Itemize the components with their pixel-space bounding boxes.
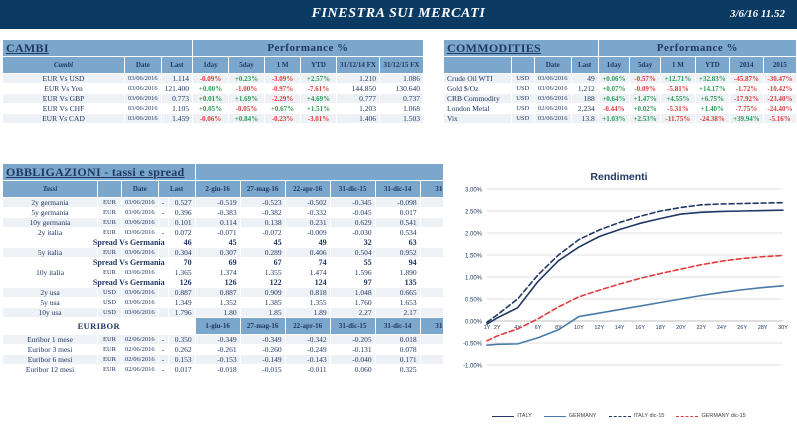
- bond-sign: [158, 218, 168, 228]
- spread-row: Spread Vs Germania12612612212497135220: [3, 278, 479, 288]
- cambi-performance-header: Performance %: [193, 40, 424, 57]
- obbligazioni-section-title: OBBLIGAZIONI - tassi e spread: [3, 164, 196, 181]
- cambi-date: 03/06/2016: [125, 114, 162, 124]
- cambi-1m: -3.09%: [265, 74, 301, 84]
- col-header-1day: 1day: [598, 57, 629, 74]
- col-header-tassi: Tassi: [3, 181, 98, 198]
- bond-col-2: 1.385: [240, 298, 285, 308]
- bond-currency: USD: [98, 288, 122, 298]
- col-header-c1: 2-giu-16: [195, 181, 240, 198]
- bond-col-3: 1.474: [285, 268, 330, 278]
- euribor-name: Euribor 12 mesi: [3, 365, 98, 375]
- euribor-col-header-2: 27-mag-16: [240, 318, 285, 335]
- bond-currency: EUR: [98, 248, 122, 258]
- table-row: 5y usaUSD03/06/20161.3491.3521.3851.3551…: [3, 298, 479, 308]
- commodity-2015: -24.40%: [763, 104, 796, 114]
- euribor-col-4: -0.131: [330, 345, 375, 355]
- commodity-last: 1,212: [571, 84, 598, 94]
- euribor-col-2: -0.260: [240, 345, 285, 355]
- cambi-fx15: 1.086: [379, 74, 423, 84]
- euribor-col-header-3: 22-apr-16: [285, 318, 330, 335]
- col-header-1m: 1 M: [265, 57, 301, 74]
- spread-col-2: 67: [240, 258, 285, 268]
- commodity-currency: USD: [511, 74, 534, 84]
- commodity-last: 13.8: [571, 114, 598, 124]
- bond-col-1: 1.80: [195, 308, 240, 318]
- bond-name: 2y germania: [3, 198, 98, 208]
- legend-swatch-icon: [676, 416, 698, 417]
- cambi-1m: -0.23%: [265, 114, 301, 124]
- commodity-date: 03/06/2016: [534, 74, 571, 84]
- col-header-c2: 27-mag-16: [240, 181, 285, 198]
- commodity-ytd: +6.75%: [695, 94, 729, 104]
- chart-y-tick-label: 1.50%: [465, 254, 483, 260]
- bond-col-1: 1.374: [195, 268, 240, 278]
- table-row: Euribor 1 meseEUR02/06/2016-0.350-0.349-…: [3, 335, 479, 345]
- euribor-col-1: -0.349: [195, 335, 240, 345]
- euribor-col-3: -0.342: [285, 335, 330, 345]
- legend-swatch-icon: [492, 416, 514, 417]
- euribor-col-5: 0.078: [375, 345, 420, 355]
- bond-name: 5y usa: [3, 298, 98, 308]
- commodity-name: CRB Commodity: [444, 94, 512, 104]
- spread-col-3: 74: [285, 258, 330, 268]
- bond-currency: EUR: [98, 218, 122, 228]
- spread-col-2: 122: [240, 278, 285, 288]
- euribor-col-4: 0.060: [330, 365, 375, 375]
- euribor-last: 0.153: [168, 355, 195, 365]
- cambi-fx14: 144.850: [337, 84, 380, 94]
- commodity-1day: +0.06%: [598, 74, 629, 84]
- commodity-5day: -0.57%: [629, 74, 660, 84]
- spread-label: Spread Vs Germania: [3, 258, 169, 268]
- table-row: EUR Vs GBP03/06/20160.773+0.01%+1.69%-2.…: [3, 94, 424, 104]
- col-header-last: Last: [158, 181, 195, 198]
- cambi-pair-label: EUR Vs Yen: [3, 84, 125, 94]
- bond-col-3: 0.231: [285, 218, 330, 228]
- bond-date: 03/06/2016: [122, 228, 159, 238]
- col-header-last: Last: [571, 57, 598, 74]
- table-row: 2y usaUSD03/06/20160.8870.8870.9090.8181…: [3, 288, 479, 298]
- bond-col-5: 0.017: [375, 208, 420, 218]
- bond-name: 10y germania: [3, 218, 98, 228]
- chart-canvas: 3.00%2.50%2.00%1.50%1.00%0.50%0.00%-0.50…: [443, 163, 795, 427]
- bond-last: 0.072: [168, 228, 195, 238]
- bond-col-1: 0.887: [195, 288, 240, 298]
- table-row: EUR Vs USD03/06/20161.114-0.09%+0.23%-3.…: [3, 74, 424, 84]
- commodity-2014: -45.87%: [730, 74, 764, 84]
- obbligazioni-title-row: OBBLIGAZIONI - tassi e spread: [3, 164, 479, 181]
- bond-last: 0.304: [168, 248, 195, 258]
- spread-row: Spread Vs Germania706967745594181: [3, 258, 479, 268]
- bond-sign: [158, 308, 168, 318]
- bond-col-2: 0.138: [240, 218, 285, 228]
- chart-series-italy-dic-15: [487, 203, 783, 323]
- bond-sign: [158, 288, 168, 298]
- commodity-currency: USD: [511, 94, 534, 104]
- commodity-1m: -5.31%: [661, 104, 695, 114]
- bond-sign: -: [158, 208, 168, 218]
- bond-col-4: 1.596: [330, 268, 375, 278]
- col-header-c4: 31-dic-15: [330, 181, 375, 198]
- table-row: EUR Vs CAD03/06/20161.459-0.06%+0.84%-0.…: [3, 114, 424, 124]
- commodity-5day: +1.47%: [629, 94, 660, 104]
- cambi-last: 1.114: [161, 74, 192, 84]
- cambi-pair-label: EUR Vs USD: [3, 74, 125, 84]
- obbligazioni-title-filler: [195, 164, 478, 181]
- euribor-name: Euribor 6 mesi: [3, 355, 98, 365]
- cambi-1day: -0.06%: [193, 114, 229, 124]
- chart-x-tick-label: 26Y: [737, 325, 747, 331]
- chart-x-tick-label: 30Y: [778, 325, 788, 331]
- commodity-ytd: +1.40%: [695, 104, 729, 114]
- col-header-ytd: YTD: [301, 57, 337, 74]
- col-header-c5: 31-dic-14: [375, 181, 420, 198]
- bond-col-1: 0.114: [195, 218, 240, 228]
- bond-currency: EUR: [98, 208, 122, 218]
- chart-x-tick-label: 1Y: [484, 325, 491, 331]
- euribor-sign: -: [158, 365, 168, 375]
- bond-date: 03/06/2016: [122, 268, 159, 278]
- bond-col-5: 0.534: [375, 228, 420, 238]
- legend-label: ITALY dic-15: [634, 413, 665, 419]
- euribor-col-1: -0.153: [195, 355, 240, 365]
- commodity-1m: -11.75%: [661, 114, 695, 124]
- table-row: EUR Vs CHF03/06/20161.105+0.05%-0.05%+0.…: [3, 104, 424, 114]
- commodity-2014: +39.94%: [730, 114, 764, 124]
- bond-last: 1.796: [168, 308, 195, 318]
- commodity-date: 03/06/2016: [534, 94, 571, 104]
- col-header-ccy-blank: [98, 181, 122, 198]
- bond-col-3: 0.406: [285, 248, 330, 258]
- bond-date: 03/06/2016: [122, 248, 159, 258]
- spread-col-3: 124: [285, 278, 330, 288]
- spread-last: 46: [168, 238, 195, 248]
- bond-col-1: 0.307: [195, 248, 240, 258]
- chart-y-tick-label: 2.00%: [465, 232, 483, 238]
- cambi-last: 0.773: [161, 94, 192, 104]
- bond-sign: [158, 268, 168, 278]
- commodity-ytd: +32.83%: [695, 74, 729, 84]
- timestamp: 3/6/16 11.52: [730, 8, 785, 20]
- bond-col-5: 0.541: [375, 218, 420, 228]
- bond-col-5: 0.665: [375, 288, 420, 298]
- commodity-2015: -5.16%: [763, 114, 796, 124]
- bond-last: 1.365: [168, 268, 195, 278]
- bond-col-1: 1.352: [195, 298, 240, 308]
- cambi-table: CAMBI Performance % Cambi Date Last 1day…: [2, 39, 424, 124]
- bond-col-2: -0.523: [240, 198, 285, 208]
- euribor-col-4: -0.040: [330, 355, 375, 365]
- bond-col-4: 1.760: [330, 298, 375, 308]
- bond-col-2: 1.85: [240, 308, 285, 318]
- cambi-1m: -0.97%: [265, 84, 301, 94]
- table-row: 5y germaniaEUR03/06/2016-0.396-0.383-0.3…: [3, 208, 479, 218]
- cambi-last: 121.400: [161, 84, 192, 94]
- bond-col-4: -0.030: [330, 228, 375, 238]
- euribor-sign: -: [158, 355, 168, 365]
- chart-y-tick-label: -0.50%: [463, 342, 483, 348]
- bond-last: 0.887: [168, 288, 195, 298]
- commodity-1day: -0.44%: [598, 104, 629, 114]
- cambi-fx14: 1.406: [337, 114, 380, 124]
- rendimenti-chart: Rendimenti 3.00%2.50%2.00%1.50%1.00%0.50…: [443, 163, 795, 427]
- commodity-name: London Metal: [444, 104, 512, 114]
- commodity-name: Vix: [444, 114, 512, 124]
- table-row: Euribor 3 mesiEUR02/06/2016-0.262-0.261-…: [3, 345, 479, 355]
- col-header-ytd: YTD: [695, 57, 729, 74]
- chart-x-tick-label: 20Y: [676, 325, 686, 331]
- bond-col-3: -0.502: [285, 198, 330, 208]
- chart-y-tick-label: 0.50%: [465, 298, 483, 304]
- spread-col-5: 94: [375, 258, 420, 268]
- chart-x-tick-label: 2Y: [494, 325, 501, 331]
- euribor-name: Euribor 3 mesi: [3, 345, 98, 355]
- spread-col-4: 97: [330, 278, 375, 288]
- obbligazioni-table: OBBLIGAZIONI - tassi e spread Tassi Date…: [2, 163, 479, 375]
- cambi-panel: CAMBI Performance % Cambi Date Last 1day…: [2, 39, 424, 124]
- bond-date: 03/06/2016: [122, 198, 159, 208]
- commodity-currency: USD: [511, 104, 534, 114]
- spread-col-4: 55: [330, 258, 375, 268]
- table-row: 2y italiaEUR03/06/2016-0.072-0.071-0.072…: [3, 228, 479, 238]
- spread-row: Spread Vs Germania464545493263104: [3, 238, 479, 248]
- bond-last: 0.527: [168, 198, 195, 208]
- chart-x-tick-label: 10Y: [574, 325, 584, 331]
- bond-currency: EUR: [98, 228, 122, 238]
- bond-col-5: 1.653: [375, 298, 420, 308]
- commodities-title-row: COMMODITIES Performance %: [444, 40, 797, 57]
- bond-date: 03/06/2016: [122, 298, 159, 308]
- bond-col-2: -0.382: [240, 208, 285, 218]
- euribor-currency: EUR: [98, 335, 122, 345]
- commodity-name: Crude Oil WTI: [444, 74, 512, 84]
- bond-sign: [158, 248, 168, 258]
- bond-name: 5y italia: [3, 248, 98, 258]
- bond-currency: USD: [98, 298, 122, 308]
- euribor-label: EURIBOR: [3, 318, 196, 335]
- bond-name: 2y italia: [3, 228, 98, 238]
- legend-label: GERMANY dic-15: [701, 413, 745, 419]
- cambi-last: 1.459: [161, 114, 192, 124]
- commodity-last: 49: [571, 74, 598, 84]
- spread-label: Spread Vs Germania: [3, 278, 169, 288]
- commodities-section-title: COMMODITIES: [444, 40, 599, 57]
- commodity-2015: -23.40%: [763, 94, 796, 104]
- bond-col-3: 1.89: [285, 308, 330, 318]
- col-header-2014: 2014: [730, 57, 764, 74]
- bond-currency: USD: [98, 308, 122, 318]
- commodity-name: Gold $/Oz: [444, 84, 512, 94]
- spread-col-2: 45: [240, 238, 285, 248]
- commodity-1m: +12.71%: [661, 74, 695, 84]
- euribor-date: 02/06/2016: [122, 345, 159, 355]
- bond-col-2: 0.289: [240, 248, 285, 258]
- legend-item[interactable]: GERMANY dic-15: [676, 413, 745, 419]
- euribor-last: 0.017: [168, 365, 195, 375]
- bond-col-5: 1.890: [375, 268, 420, 278]
- legend-item[interactable]: ITALY: [492, 413, 531, 419]
- euribor-col-5: 0.018: [375, 335, 420, 345]
- commodity-last: 2,234: [571, 104, 598, 114]
- legend-label: ITALY: [517, 413, 531, 419]
- euribor-col-1: -0.261: [195, 345, 240, 355]
- euribor-col-3: -0.011: [285, 365, 330, 375]
- cambi-1m: +0.67%: [265, 104, 301, 114]
- bond-sign: [158, 298, 168, 308]
- euribor-col-5: 0.171: [375, 355, 420, 365]
- table-row: 5y italiaEUR03/06/20160.3040.3070.2890.4…: [3, 248, 479, 258]
- dashboard-page: FINESTRA SUI MERCATI 3/6/16 11.52 CAMBI …: [0, 0, 797, 429]
- bond-col-3: 0.818: [285, 288, 330, 298]
- bond-col-3: 1.355: [285, 298, 330, 308]
- commodity-ytd: +14.17%: [695, 84, 729, 94]
- chart-x-tick-label: 22Y: [696, 325, 706, 331]
- table-row: Euribor 12 mesiEUR02/06/2016-0.017-0.018…: [3, 365, 479, 375]
- euribor-sign: -: [158, 345, 168, 355]
- chart-y-tick-label: -1.00%: [463, 364, 483, 370]
- title-bar: FINESTRA SUI MERCATI 3/6/16 11.52: [0, 0, 797, 30]
- commodities-header-row: Date Last 1day 5day 1 M YTD 2014 2015: [444, 57, 797, 74]
- obbligazioni-header-row: Tassi Date Last 2-giu-16 27-mag-16 22-ap…: [3, 181, 479, 198]
- bond-col-2: 0.909: [240, 288, 285, 298]
- euribor-col-2: -0.349: [240, 335, 285, 345]
- col-header-fx15: 31/12/15 FX: [379, 57, 423, 74]
- cambi-date: 03/06/2016: [125, 74, 162, 84]
- commodity-date: 03/06/2016: [534, 84, 571, 94]
- cambi-1day: -0.09%: [193, 74, 229, 84]
- euribor-sign: -: [158, 335, 168, 345]
- chart-y-tick-label: 3.00%: [465, 188, 483, 194]
- spread-col-5: 135: [375, 278, 420, 288]
- commodities-panel: COMMODITIES Performance % Date Last 1day…: [443, 39, 797, 124]
- bond-name: 5y germania: [3, 208, 98, 218]
- cambi-ytd: -7.61%: [301, 84, 337, 94]
- bond-col-3: -0.009: [285, 228, 330, 238]
- commodity-5day: -0.09%: [629, 84, 660, 94]
- bond-col-5: 0.952: [375, 248, 420, 258]
- spread-col-1: 126: [195, 278, 240, 288]
- bond-name: 10y usa: [3, 308, 98, 318]
- bond-col-5: 2.17: [375, 308, 420, 318]
- cambi-ytd: +1.51%: [301, 104, 337, 114]
- col-header-date: Date: [125, 57, 162, 74]
- euribor-name: Euribor 1 mese: [3, 335, 98, 345]
- euribor-currency: EUR: [98, 345, 122, 355]
- cambi-5day: -0.05%: [229, 104, 265, 114]
- cambi-5day: +0.84%: [229, 114, 265, 124]
- bond-col-4: 1.048: [330, 288, 375, 298]
- bond-sign: -: [158, 198, 168, 208]
- bond-date: 03/06/2016: [122, 218, 159, 228]
- cambi-date: 03/06/2016: [125, 84, 162, 94]
- commodity-1day: +0.07%: [598, 84, 629, 94]
- bond-date: 03/06/2016: [122, 308, 159, 318]
- cambi-pair-label: EUR Vs GBP: [3, 94, 125, 104]
- euribor-col-header-5: 31-dic-14: [375, 318, 420, 335]
- spread-col-5: 63: [375, 238, 420, 248]
- spread-col-1: 69: [195, 258, 240, 268]
- cambi-1day: +0.00%: [193, 84, 229, 94]
- euribor-header-row: EURIBOR1-giu-1627-mag-1622-apr-1631-dic-…: [3, 318, 479, 335]
- commodity-date: 02/06/2016: [534, 104, 571, 114]
- cambi-pair-label: EUR Vs CHF: [3, 104, 125, 114]
- legend-item[interactable]: ITALY dic-15: [609, 413, 665, 419]
- spread-col-4: 32: [330, 238, 375, 248]
- chart-x-tick-label: 18Y: [656, 325, 666, 331]
- bond-date: 03/06/2016: [122, 288, 159, 298]
- cambi-pair-label: EUR Vs CAD: [3, 114, 125, 124]
- bond-name: 10y italia: [3, 268, 98, 278]
- bond-last: 0.396: [168, 208, 195, 218]
- cambi-fx14: 0.777: [337, 94, 380, 104]
- chart-legend: ITALYGERMANYITALY dic-15GERMANY dic-15: [443, 413, 795, 419]
- bond-last: 1.349: [168, 298, 195, 308]
- commodity-currency: USD: [511, 114, 534, 124]
- commodity-ytd: -24.38%: [695, 114, 729, 124]
- legend-item[interactable]: GERMANY: [544, 413, 597, 419]
- col-header-last: Last: [161, 57, 192, 74]
- bond-col-2: 1.355: [240, 268, 285, 278]
- bond-col-1: -0.071: [195, 228, 240, 238]
- commodity-currency: USD: [511, 84, 534, 94]
- euribor-date: 02/06/2016: [122, 365, 159, 375]
- table-row: 10y usaUSD03/06/20161.7961.801.851.892.2…: [3, 308, 479, 318]
- euribor-currency: EUR: [98, 355, 122, 365]
- chart-y-tick-label: 2.50%: [465, 210, 483, 216]
- spread-label: Spread Vs Germania: [3, 238, 169, 248]
- commodity-1day: +1.03%: [598, 114, 629, 124]
- commodity-2014: -7.75%: [730, 104, 764, 114]
- chart-x-tick-label: 14Y: [615, 325, 625, 331]
- col-header-commodity-blank: [444, 57, 512, 74]
- obbligazioni-panel: OBBLIGAZIONI - tassi e spread Tassi Date…: [2, 163, 479, 375]
- bond-col-3: -0.332: [285, 208, 330, 218]
- cambi-header-row: Cambi Date Last 1day 5day 1 M YTD 31/12/…: [3, 57, 424, 74]
- col-header-1m: 1 M: [661, 57, 695, 74]
- page-title: FINESTRA SUI MERCATI: [0, 6, 797, 22]
- table-row: Gold $/OzUSD03/06/20161,212+0.07%-0.09%-…: [444, 84, 797, 94]
- euribor-date: 02/06/2016: [122, 335, 159, 345]
- commodity-date: 03/06/2016: [534, 114, 571, 124]
- bond-currency: EUR: [98, 198, 122, 208]
- col-header-cambi: Cambi: [3, 57, 125, 74]
- table-row: 10y germaniaEUR03/06/20160.1010.1140.138…: [3, 218, 479, 228]
- euribor-col-2: -0.015: [240, 365, 285, 375]
- bond-name: 2y usa: [3, 288, 98, 298]
- chart-y-tick-label: 0.00%: [465, 320, 483, 326]
- legend-label: GERMANY: [569, 413, 597, 419]
- commodity-1m: +4.55%: [661, 94, 695, 104]
- cambi-fx15: 1.068: [379, 104, 423, 114]
- cambi-1day: +0.05%: [193, 104, 229, 114]
- bond-col-4: 0.629: [330, 218, 375, 228]
- chart-y-tick-label: 1.00%: [465, 276, 483, 282]
- spread-last: 126: [168, 278, 195, 288]
- cambi-fx15: 130.640: [379, 84, 423, 94]
- commodity-2015: -10.42%: [763, 84, 796, 94]
- chart-x-tick-label: 16Y: [635, 325, 645, 331]
- col-header-date: Date: [122, 181, 159, 198]
- euribor-col-3: -0.143: [285, 355, 330, 365]
- legend-swatch-icon: [609, 416, 631, 417]
- bond-col-4: -0.345: [330, 198, 375, 208]
- cambi-fx14: 1.203: [337, 104, 380, 114]
- chart-x-tick-label: 6Y: [535, 325, 542, 331]
- table-row: London MetalUSD02/06/20162,234-0.44%+0.0…: [444, 104, 797, 114]
- bond-sign: -: [158, 228, 168, 238]
- euribor-last: 0.350: [168, 335, 195, 345]
